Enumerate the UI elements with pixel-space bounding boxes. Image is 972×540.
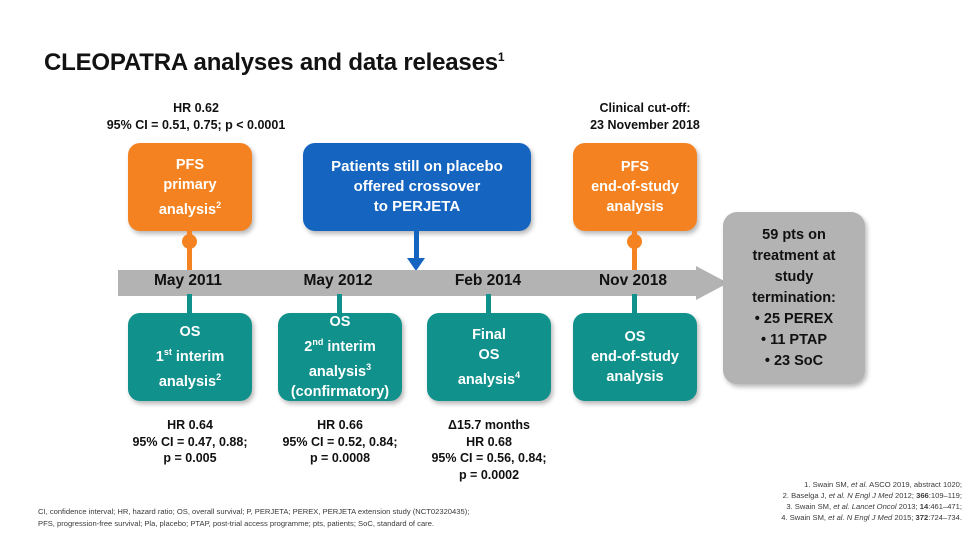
abbreviations-line1: CI, confidence interval; HR, hazard rati… bbox=[38, 506, 638, 518]
pfs-end-of-study-box[interactable]: PFS end-of-study analysis bbox=[573, 143, 697, 231]
placebo-crossover-label: Patients still on placebo offered crosso… bbox=[331, 157, 503, 217]
pfs-primary-stats-line1: HR 0.62 bbox=[78, 100, 314, 117]
connector-stem-crossover bbox=[414, 231, 419, 259]
os-2nd-line1: OS bbox=[291, 312, 389, 332]
clinical-cutoff-note: Clinical cut-off: 23 November 2018 bbox=[560, 100, 730, 133]
os-end-of-study-label: OS end-of-study analysis bbox=[591, 327, 679, 387]
outcome-heading-line4: termination: bbox=[752, 288, 836, 309]
os-1st-stats-p: p = 0.005 bbox=[110, 450, 270, 467]
page-title-superscript: 1 bbox=[498, 50, 504, 64]
crossover-line2: offered crossover bbox=[331, 177, 503, 197]
os-1st-stats-ci: 95% CI = 0.47, 0.88; bbox=[110, 434, 270, 451]
timeline-date-2: May 2012 bbox=[290, 272, 386, 290]
pfs-primary-analysis-label: PFS primary analysis2 bbox=[159, 155, 221, 220]
final-os-stats-p: p = 0.0002 bbox=[409, 467, 569, 484]
os-1st-line2: 1st interim bbox=[156, 342, 224, 367]
connector-dot-pfs-end-of-study bbox=[627, 234, 642, 249]
pfs-primary-line1: PFS bbox=[159, 155, 221, 175]
pfs-primary-line2: primary bbox=[159, 175, 221, 195]
final-os-line1: Final bbox=[458, 325, 520, 345]
abbreviations-line2: PFS, progression-free survival; Pla, pla… bbox=[38, 518, 638, 530]
outcome-heading-line3: study bbox=[752, 267, 836, 288]
reference-item-4: 4. Swain SM, et al. N Engl J Med 2015; 3… bbox=[662, 512, 962, 523]
os-1st-line3: analysis2 bbox=[156, 367, 224, 392]
outcome-bullet-2: • 11 PTAP bbox=[752, 330, 836, 351]
os-1st-line1: OS bbox=[156, 322, 224, 342]
os-end-of-study-box[interactable]: OS end-of-study analysis bbox=[573, 313, 697, 401]
crossover-line1: Patients still on placebo bbox=[331, 157, 503, 177]
final-os-line3: analysis4 bbox=[458, 365, 520, 390]
page-title: CLEOPATRA analyses and data releases1 bbox=[44, 49, 504, 77]
placebo-crossover-box[interactable]: Patients still on placebo offered crosso… bbox=[303, 143, 531, 231]
final-os-stats-delta: Δ15.7 months bbox=[409, 417, 569, 434]
reference-item-3: 3. Swain SM, et al. Lancet Oncol 2013; 1… bbox=[662, 501, 962, 512]
page-title-text: CLEOPATRA analyses and data releases bbox=[44, 49, 498, 76]
connector-stem-os-first-interim bbox=[187, 294, 192, 314]
connector-dot-pfs-primary bbox=[182, 234, 197, 249]
final-os-analysis-label: Final OS analysis4 bbox=[458, 325, 520, 390]
final-os-analysis-box[interactable]: Final OS analysis4 bbox=[427, 313, 551, 401]
study-termination-outcome-content: 59 pts on treatment at study termination… bbox=[752, 225, 836, 372]
timeline-date-1: May 2011 bbox=[140, 272, 236, 290]
pfs-eos-line2: end-of-study bbox=[591, 177, 679, 197]
clinical-cutoff-label: Clinical cut-off: bbox=[560, 100, 730, 117]
os-2nd-line3: analysis3 bbox=[291, 357, 389, 382]
outcome-bullet-1: • 25 PEREX bbox=[752, 309, 836, 330]
references-footnote: 1. Swain SM, et al. ASCO 2019, abstract … bbox=[662, 479, 962, 523]
reference-item-1: 1. Swain SM, et al. ASCO 2019, abstract … bbox=[662, 479, 962, 490]
pfs-primary-stats: HR 0.62 95% CI = 0.51, 0.75; p < 0.0001 bbox=[78, 100, 314, 133]
outcome-heading-line2: treatment at bbox=[752, 246, 836, 267]
os-second-interim-label: OS 2nd interim analysis3 (confirmatory) bbox=[291, 312, 389, 402]
os-first-interim-box[interactable]: OS 1st interim analysis2 bbox=[128, 313, 252, 401]
os-2nd-stats-ci: 95% CI = 0.52, 0.84; bbox=[260, 434, 420, 451]
crossover-line3: to PERJETA bbox=[331, 197, 503, 217]
pfs-primary-stats-line2: 95% CI = 0.51, 0.75; p < 0.0001 bbox=[78, 117, 314, 134]
connector-stem-os-end-of-study bbox=[632, 294, 637, 314]
connector-stem-os-second-interim bbox=[337, 294, 342, 314]
os-second-interim-stats: HR 0.66 95% CI = 0.52, 0.84; p = 0.0008 bbox=[260, 417, 420, 467]
timeline-date-3: Feb 2014 bbox=[440, 272, 536, 290]
os-eos-line1: OS bbox=[591, 327, 679, 347]
connector-stem-final-os bbox=[486, 294, 491, 314]
os-eos-line2: end-of-study bbox=[591, 347, 679, 367]
os-second-interim-box[interactable]: OS 2nd interim analysis3 (confirmatory) bbox=[278, 313, 402, 401]
pfs-primary-analysis-box[interactable]: PFS primary analysis2 bbox=[128, 143, 252, 231]
os-2nd-stats-p: p = 0.0008 bbox=[260, 450, 420, 467]
pfs-primary-line3: analysis2 bbox=[159, 195, 221, 220]
final-os-stats: Δ15.7 months HR 0.68 95% CI = 0.56, 0.84… bbox=[409, 417, 569, 483]
os-eos-line3: analysis bbox=[591, 367, 679, 387]
pfs-end-of-study-label: PFS end-of-study analysis bbox=[591, 157, 679, 217]
pfs-eos-line3: analysis bbox=[591, 197, 679, 217]
outcome-bullet-3: • 23 SoC bbox=[752, 351, 836, 372]
reference-item-2: 2. Baselga J, et al. N Engl J Med 2012; … bbox=[662, 490, 962, 501]
os-2nd-line2: 2nd interim bbox=[291, 332, 389, 357]
os-first-interim-stats: HR 0.64 95% CI = 0.47, 0.88; p = 0.005 bbox=[110, 417, 270, 467]
abbreviations-footnote: CI, confidence interval; HR, hazard rati… bbox=[38, 506, 638, 529]
timeline-date-4: Nov 2018 bbox=[585, 272, 681, 290]
final-os-stats-ci: 95% CI = 0.56, 0.84; bbox=[409, 450, 569, 467]
os-2nd-stats-hr: HR 0.66 bbox=[260, 417, 420, 434]
os-1st-stats-hr: HR 0.64 bbox=[110, 417, 270, 434]
os-first-interim-label: OS 1st interim analysis2 bbox=[156, 322, 224, 392]
pfs-eos-line1: PFS bbox=[591, 157, 679, 177]
outcome-heading-line1: 59 pts on bbox=[752, 225, 836, 246]
clinical-cutoff-date: 23 November 2018 bbox=[560, 117, 730, 134]
os-2nd-line4: (confirmatory) bbox=[291, 382, 389, 402]
final-os-stats-hr: HR 0.68 bbox=[409, 434, 569, 451]
study-termination-outcome-box[interactable]: 59 pts on treatment at study termination… bbox=[723, 212, 865, 384]
final-os-line2: OS bbox=[458, 345, 520, 365]
